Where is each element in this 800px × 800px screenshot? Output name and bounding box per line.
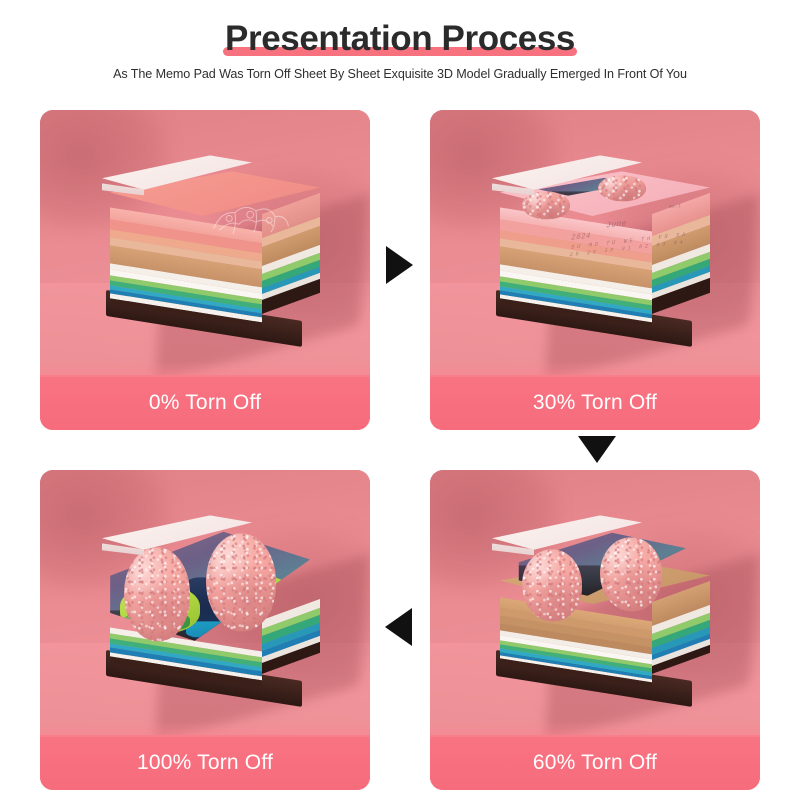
caption-glow	[40, 361, 370, 377]
arrow-right-icon	[386, 246, 413, 284]
page-title: Presentation Process	[225, 18, 575, 60]
process-panel-60[interactable]: 60% Torn Off	[430, 470, 760, 790]
arrow-left-icon	[385, 608, 412, 646]
process-panel-grid: 0% Torn Off	[40, 110, 760, 790]
memo-pad-block-30: 2024 June No.1 SU MO TU WE TH FR SA 28 2…	[470, 153, 720, 373]
memo-pad-block-100	[80, 513, 330, 733]
engraved-blossom-lineart	[206, 199, 302, 241]
panel-caption-label-30: 30% Torn Off	[533, 391, 657, 415]
pad-white-lid-0	[102, 155, 252, 199]
page-title-wrapper: Presentation Process	[219, 18, 581, 60]
panel-caption-label-100: 100% Torn Off	[137, 751, 273, 775]
panel-caption-60: 60% Torn Off	[430, 735, 760, 790]
memo-pad-block-60	[470, 513, 720, 733]
memo-pad-block-0	[80, 153, 330, 373]
pad-white-lid-100	[102, 515, 252, 559]
caption-glow	[430, 721, 760, 737]
pad-white-lid-60	[492, 515, 642, 559]
caption-glow	[430, 361, 760, 377]
caption-glow	[40, 721, 370, 737]
arrow-down-icon	[578, 436, 616, 463]
process-panel-100[interactable]: 100% Torn Off	[40, 470, 370, 790]
panel-caption-label-60: 60% Torn Off	[533, 751, 657, 775]
page-header: Presentation Process As The Memo Pad Was…	[0, 0, 800, 82]
panel-caption-0: 0% Torn Off	[40, 375, 370, 430]
panel-caption-label-0: 0% Torn Off	[149, 391, 261, 415]
panel-caption-100: 100% Torn Off	[40, 735, 370, 790]
process-panel-30[interactable]: 2024 June No.1 SU MO TU WE TH FR SA 28 2…	[430, 110, 760, 430]
panel-caption-30: 30% Torn Off	[430, 375, 760, 430]
pad-white-lid-30	[492, 155, 642, 199]
blossom-tree-left	[124, 547, 190, 641]
process-panel-0[interactable]: 0% Torn Off	[40, 110, 370, 430]
blossom-tree-left	[522, 549, 582, 621]
page-subtitle: As The Memo Pad Was Torn Off Sheet By Sh…	[0, 66, 800, 82]
